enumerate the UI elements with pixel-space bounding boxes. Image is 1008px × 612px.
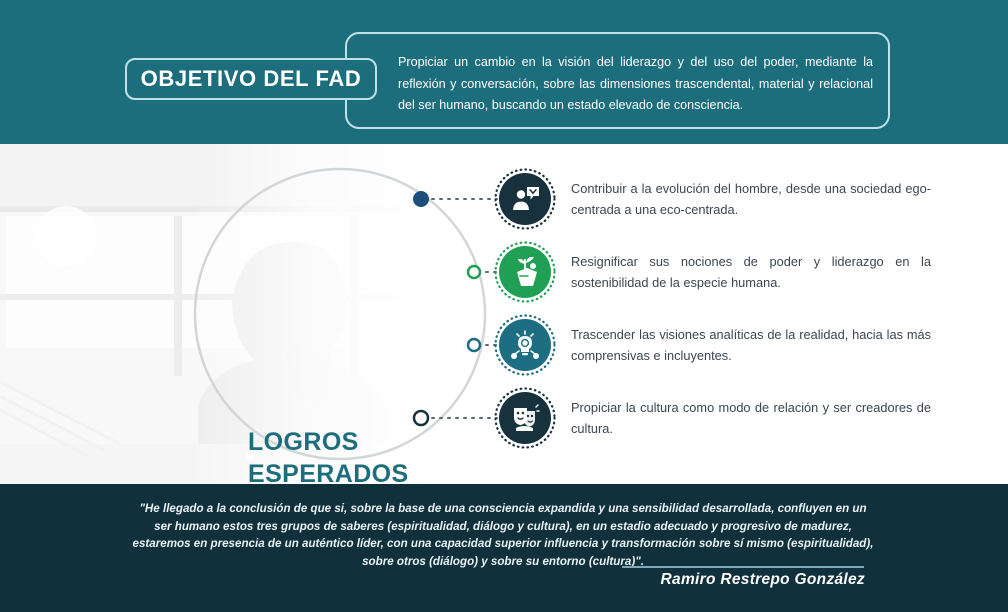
sprout-growth-icon: [499, 246, 551, 298]
quote-author: Ramiro Restrepo González: [560, 571, 865, 589]
icon-dotted-ring: [494, 387, 556, 449]
list-item[interactable]: Resignificar sus nociones de poder y lid…: [499, 246, 931, 298]
list-item-text: Trascender las visiones analíticas de la…: [571, 319, 931, 366]
icon-dotted-ring: [494, 168, 556, 230]
quote-band: "He llegado a la conclusión de que si, s…: [0, 484, 1008, 612]
achievements-list: Contribuir a la evolución del hombre, de…: [0, 144, 1008, 484]
list-item[interactable]: Contribuir a la evolución del hombre, de…: [499, 173, 931, 225]
author-divider: [622, 566, 864, 568]
objective-text: Propiciar un cambio en la visión del lid…: [398, 52, 873, 117]
main-body: LOGROS ESPERADOS Contribuir: [0, 144, 1008, 484]
header-band: OBJETIVO DEL FAD Propiciar un cambio en …: [0, 0, 1008, 144]
icon-dotted-ring: [494, 241, 556, 303]
infographic-page: OBJETIVO DEL FAD Propiciar un cambio en …: [0, 0, 1008, 612]
list-item[interactable]: Propiciar la cultura como modo de relaci…: [499, 392, 931, 444]
lightbulb-network-icon: [499, 319, 551, 371]
list-item-text: Resignificar sus nociones de poder y lid…: [571, 246, 931, 293]
person-speech-bubble-icon: [499, 173, 551, 225]
list-item-text: Propiciar la cultura como modo de relaci…: [571, 392, 931, 439]
quote-text: "He llegado a la conclusión de que si, s…: [132, 500, 874, 570]
list-item[interactable]: Trascender las visiones analíticas de la…: [499, 319, 931, 371]
objective-badge: OBJETIVO DEL FAD: [125, 58, 377, 100]
theater-masks-icon: [499, 392, 551, 444]
icon-dotted-ring: [494, 314, 556, 376]
list-item-text: Contribuir a la evolución del hombre, de…: [571, 173, 931, 220]
objective-badge-label: OBJETIVO DEL FAD: [141, 66, 362, 92]
